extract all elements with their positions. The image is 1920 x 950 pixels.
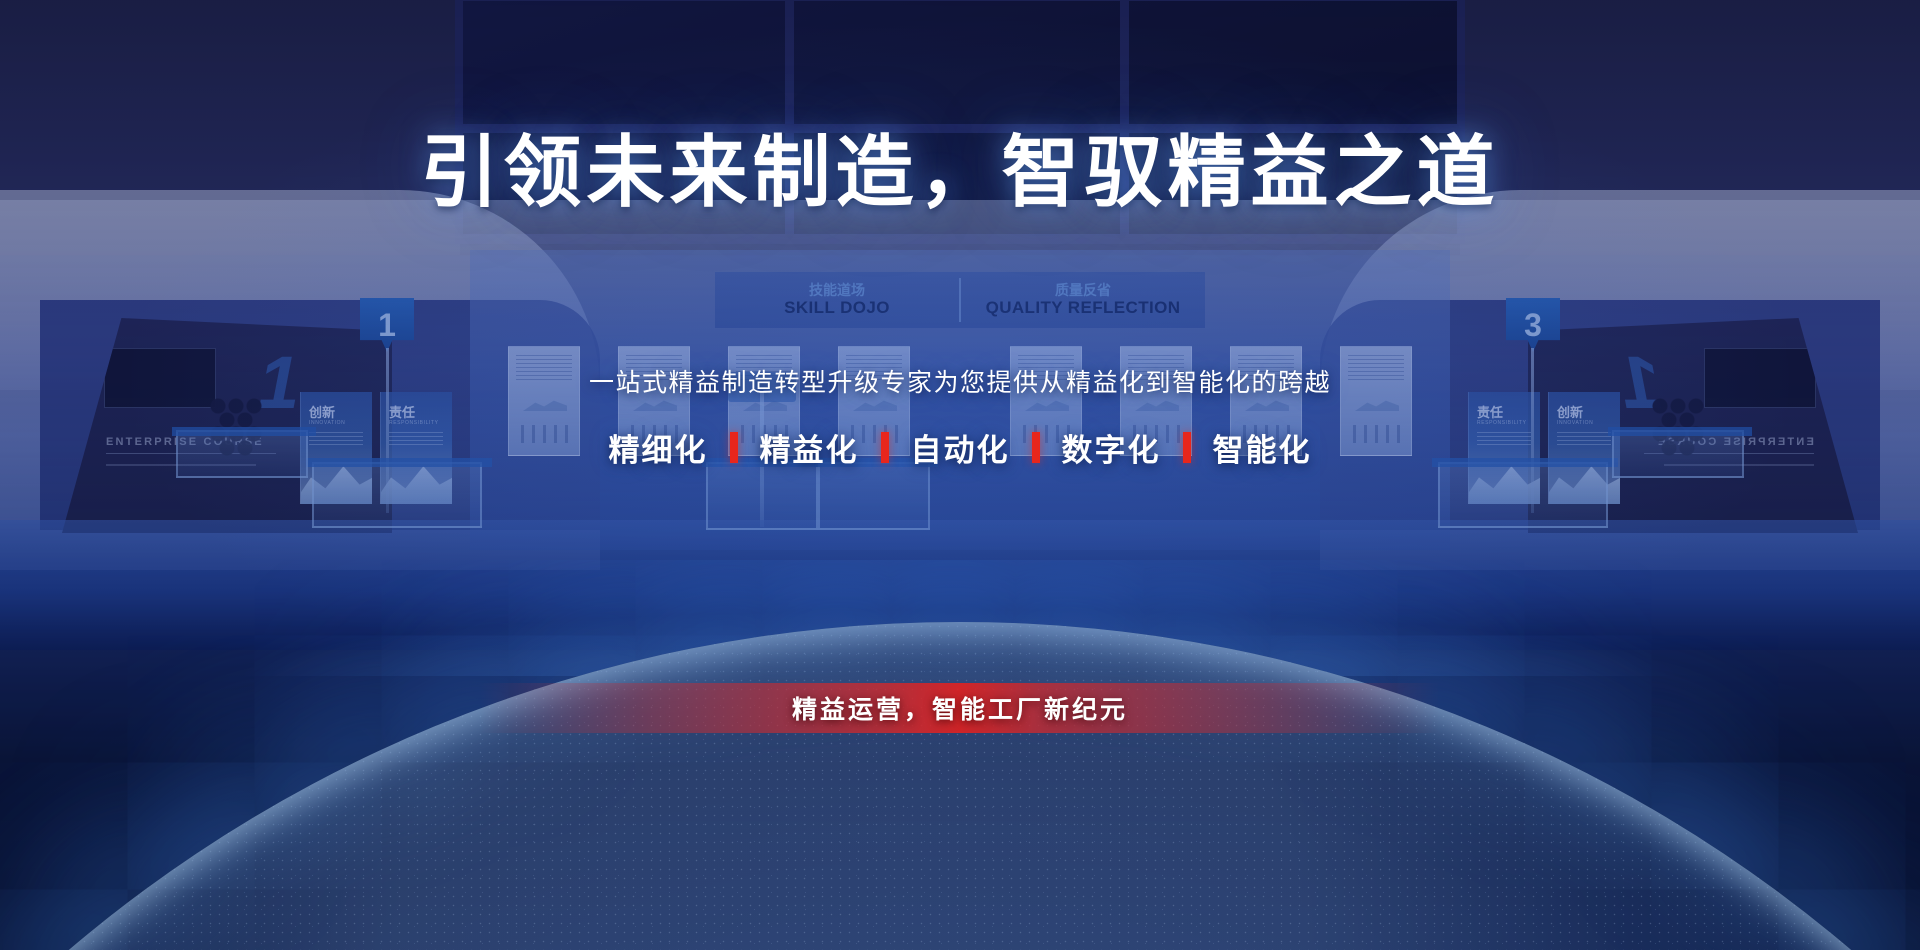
tagline-text: 精益运营，智能工厂新纪元: [792, 690, 1128, 726]
keyword-item: 智能化: [1191, 425, 1334, 470]
keyword-item: 数字化: [1040, 425, 1183, 470]
keyword-separator-icon: [1183, 432, 1191, 463]
keyword-separator-icon: [1032, 432, 1040, 463]
hero-content: 引领未来制造，智驭精益之道 一站式精益制造转型升级专家为您提供从精益化到智能化的…: [0, 0, 1920, 950]
hero-banner: 1 ENTERPRISE COURSE 创新 INNOVATION 责任 RES…: [0, 0, 1920, 950]
keyword-separator-icon: [881, 432, 889, 463]
tagline-ribbon: 精益运营，智能工厂新纪元: [480, 683, 1440, 733]
keyword-item: 精细化: [587, 425, 730, 470]
page-title: 引领未来制造，智驭精益之道: [0, 133, 1920, 211]
keyword-item: 自动化: [889, 425, 1032, 470]
keyword-item: 精益化: [738, 425, 881, 470]
keyword-separator-icon: [730, 432, 738, 463]
keyword-list: 精细化 精益化 自动化 数字化 智能化: [0, 425, 1920, 470]
hero-subtitle: 一站式精益制造转型升级专家为您提供从精益化到智能化的跨越: [0, 363, 1920, 399]
